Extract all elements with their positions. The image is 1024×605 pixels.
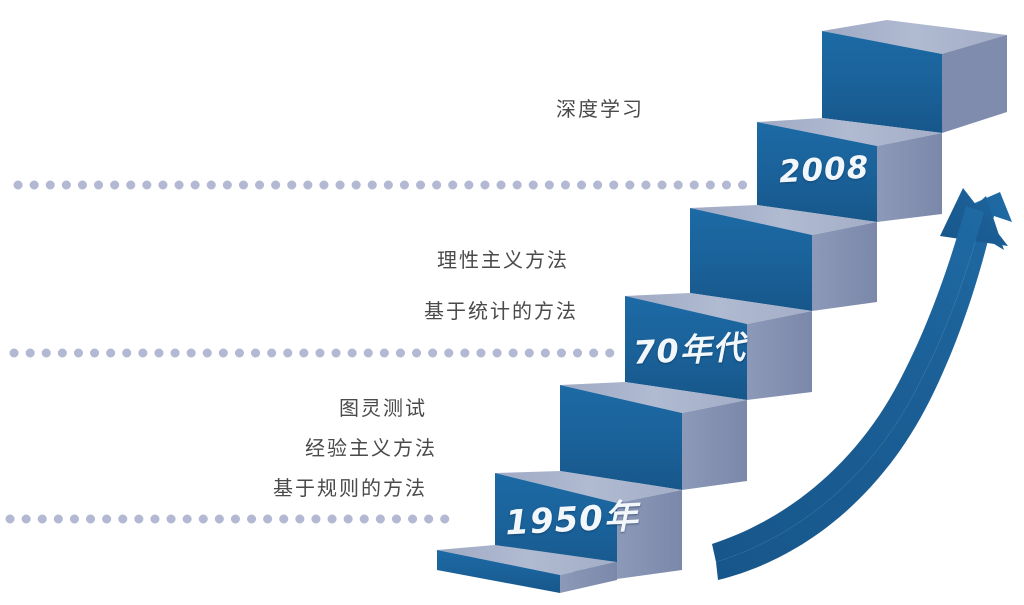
stage-label-rule-based-method: 基于规则的方法 [273,472,427,501]
stage-label-deep-learning: 深度学习 [556,93,644,122]
stage-label-statistical-method: 基于统计的方法 [424,295,578,324]
stair-step-5 [757,118,942,222]
stage-label-empiricist-method: 经验主义方法 [305,432,437,461]
diagram-canvas: 1950年 70年代 2008 深度学习 理性主义方法 基于统计的方法 图灵测试… [0,0,1024,605]
stair-step-4 [690,205,877,311]
stair-step-2 [560,382,747,490]
stage-label-rationalist-method: 理性主义方法 [437,244,569,273]
stair-step-3 [625,293,812,400]
stage-label-turing-test: 图灵测试 [339,392,427,421]
stair-step-6 [822,20,1007,133]
